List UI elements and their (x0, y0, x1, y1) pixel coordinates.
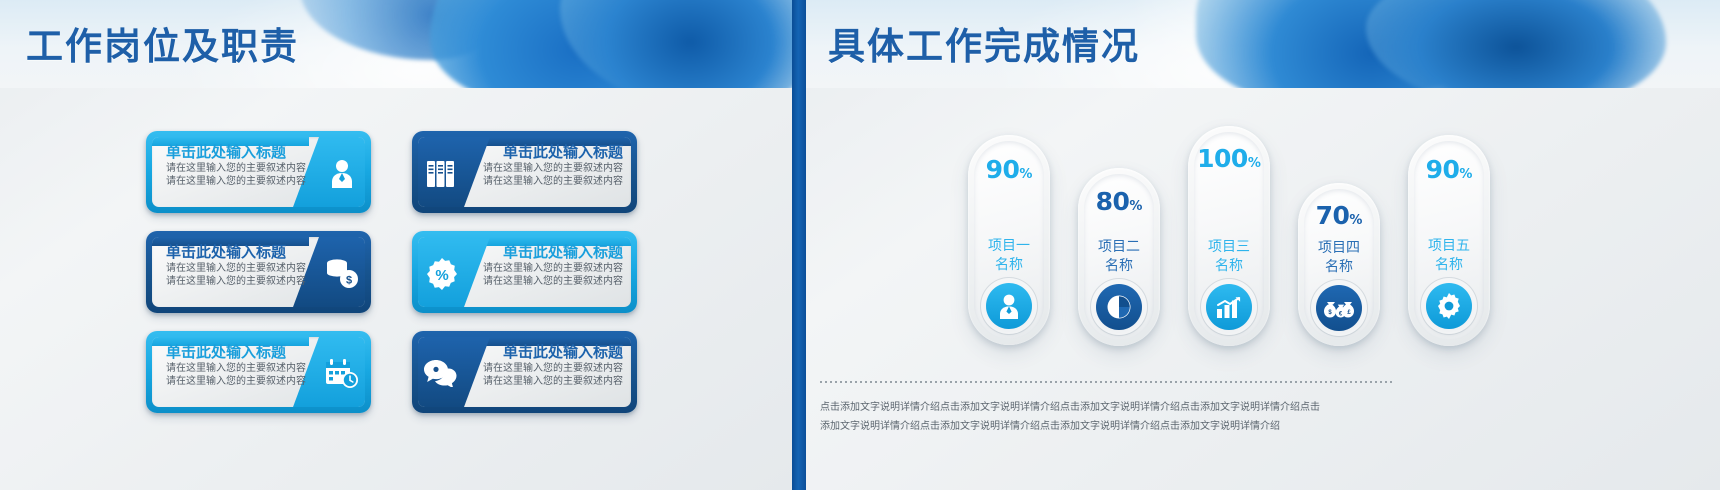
card-title: 单击此处输入标题 (473, 342, 623, 362)
bar-chart-growth-icon (1206, 284, 1252, 330)
capsule-label-line-1: 项目二 (1084, 238, 1154, 257)
responsibility-card[interactable]: 单击此处输入标题 请在这里输入您的主要叙述内容 请在这里输入您的主要叙述内容 (146, 131, 371, 213)
card-title: 单击此处输入标题 (166, 142, 316, 162)
capsule-percent-value: 80 (1096, 187, 1130, 216)
card-line-1: 请在这里输入您的主要叙述内容 (166, 362, 316, 375)
card-text-block: 单击此处输入标题 请在这里输入您的主要叙述内容 请在这里输入您的主要叙述内容 (166, 142, 316, 188)
capsule-percent-value: 90 (986, 155, 1020, 184)
capsule-percent: 70% (1304, 201, 1374, 230)
capsule-face: 70% 项目四 名称 (1304, 189, 1374, 340)
card-title: 单击此处输入标题 (473, 142, 623, 162)
capsule-label-line-2: 名称 (1414, 256, 1484, 275)
right-panel-title: 具体工作完成情况 (828, 16, 1140, 70)
card-text-block: 单击此处输入标题 请在这里输入您的主要叙述内容 请在这里输入您的主要叙述内容 (473, 342, 623, 388)
card-text-block: 单击此处输入标题 请在这里输入您的主要叙述内容 请在这里输入您的主要叙述内容 (473, 242, 623, 288)
card-line-2: 请在这里输入您的主要叙述内容 (473, 275, 623, 288)
svg-text:$: $ (346, 275, 352, 287)
capsule-percent: 80% (1084, 187, 1154, 216)
capsule-percent-value: 70 (1316, 201, 1350, 230)
responsibility-card[interactable]: 单击此处输入标题 请在这里输入您的主要叙述内容 请在这里输入您的主要叙述内容 (146, 331, 371, 413)
capsule-face: 80% 项目二 名称 (1084, 174, 1154, 340)
capsule-percent-value: 90 (1426, 155, 1460, 184)
card-line-1: 请在这里输入您的主要叙述内容 (473, 362, 623, 375)
capsule-label: 项目二 名称 (1084, 238, 1154, 276)
progress-capsule[interactable]: 90% 项目五 名称 (1408, 135, 1490, 346)
percent-sign: % (1459, 167, 1472, 182)
card-line-1: 请在这里输入您的主要叙述内容 (473, 162, 623, 175)
progress-capsule[interactable]: 100% 项目三 名称 (1188, 126, 1270, 346)
card-title: 单击此处输入标题 (473, 242, 623, 262)
capsule-label-line-2: 名称 (1084, 257, 1154, 276)
person-icon (327, 157, 357, 189)
card-line-2: 请在这里输入您的主要叙述内容 (166, 175, 316, 188)
footer-text-block: 点击添加文字说明详情介绍点击添加文字说明详情介绍点击添加文字说明详情介绍点击添加… (820, 398, 1406, 436)
card-inner-panel: 单击此处输入标题 请在这里输入您的主要叙述内容 请在这里输入您的主要叙述内容 % (418, 237, 631, 307)
capsule-label-line-2: 名称 (1194, 257, 1264, 276)
card-line-2: 请在这里输入您的主要叙述内容 (166, 375, 316, 388)
card-inner-panel: 单击此处输入标题 请在这里输入您的主要叙述内容 请在这里输入您的主要叙述内容 (418, 337, 631, 407)
responsibility-card[interactable]: 单击此处输入标题 请在这里输入您的主要叙述内容 请在这里输入您的主要叙述内容 (412, 131, 637, 213)
capsule-label: 项目四 名称 (1304, 239, 1374, 277)
right-panel: 具体工作完成情况 90% 项目一 名称 (806, 0, 1720, 490)
footer-divider (820, 381, 1394, 383)
footer-line-1: 点击添加文字说明详情介绍点击添加文字说明详情介绍点击添加文字说明详情介绍点击添加… (820, 398, 1406, 417)
capsule-label-line-1: 项目三 (1194, 238, 1264, 257)
percent-sign: % (1248, 156, 1261, 171)
card-text-block: 单击此处输入标题 请在这里输入您的主要叙述内容 请在这里输入您的主要叙述内容 (166, 342, 316, 388)
left-panel-title: 工作岗位及职责 (26, 16, 299, 70)
slide: 工作岗位及职责 单击此处输入标题 请在这里输入您的主要叙述内容 请在这里输入您的… (0, 0, 1720, 490)
card-line-2: 请在这里输入您的主要叙述内容 (166, 275, 316, 288)
progress-capsule[interactable]: 80% 项目二 名称 (1078, 168, 1160, 346)
capsule-face: 100% 项目三 名称 (1194, 132, 1264, 340)
card-inner-panel: 单击此处输入标题 请在这里输入您的主要叙述内容 请在这里输入您的主要叙述内容 (152, 237, 365, 307)
card-line-2: 请在这里输入您的主要叙述内容 (473, 375, 623, 388)
capsule-label: 项目三 名称 (1194, 238, 1264, 276)
capsule-face: 90% 项目一 名称 (974, 141, 1044, 339)
responsibility-card[interactable]: 单击此处输入标题 请在这里输入您的主要叙述内容 请在这里输入您的主要叙述内容 (146, 231, 371, 313)
capsule-label: 项目五 名称 (1414, 237, 1484, 275)
percent-badge-icon: % (426, 258, 458, 290)
card-text-block: 单击此处输入标题 请在这里输入您的主要叙述内容 请在这里输入您的主要叙述内容 (166, 242, 316, 288)
capsule-percent: 90% (1414, 155, 1484, 184)
speech-bubbles-icon (424, 359, 460, 387)
card-line-2: 请在这里输入您的主要叙述内容 (473, 175, 623, 188)
capsule-label-line-1: 项目五 (1414, 237, 1484, 256)
capsule-label-line-2: 名称 (974, 256, 1044, 275)
capsule-label-line-2: 名称 (1304, 258, 1374, 277)
percent-sign: % (1019, 167, 1032, 182)
coins-icon: $ (323, 257, 359, 289)
person-icon (986, 283, 1032, 329)
gear-icon (1426, 283, 1472, 329)
responsibility-card[interactable]: 单击此处输入标题 请在这里输入您的主要叙述内容 请在这里输入您的主要叙述内容 % (412, 231, 637, 313)
card-text-block: 单击此处输入标题 请在这里输入您的主要叙述内容 请在这里输入您的主要叙述内容 (473, 142, 623, 188)
percent-sign: % (1129, 199, 1142, 214)
card-title: 单击此处输入标题 (166, 242, 316, 262)
pie-chart-icon (1096, 284, 1142, 330)
capsule-face: 90% 项目五 名称 (1414, 141, 1484, 340)
card-line-1: 请在这里输入您的主要叙述内容 (473, 262, 623, 275)
card-inner-panel: 单击此处输入标题 请在这里输入您的主要叙述内容 请在这里输入您的主要叙述内容 (152, 137, 365, 207)
card-inner-panel: 单击此处输入标题 请在这里输入您的主要叙述内容 请在这里输入您的主要叙述内容 (152, 337, 365, 407)
progress-capsule[interactable]: 90% 项目一 名称 (968, 135, 1050, 345)
footer-line-2: 添加文字说明详情介绍点击添加文字说明详情介绍点击添加文字说明详情介绍点击添加文字… (820, 417, 1406, 436)
money-bags-icon: $€£ (1316, 285, 1362, 331)
responsibility-card[interactable]: 单击此处输入标题 请在这里输入您的主要叙述内容 请在这里输入您的主要叙述内容 (412, 331, 637, 413)
calendar-clock-icon (325, 359, 359, 389)
capsule-percent: 100% (1194, 144, 1264, 173)
capsule-label-line-1: 项目一 (974, 237, 1044, 256)
card-title: 单击此处输入标题 (166, 342, 316, 362)
capsule-percent-value: 100 (1197, 144, 1248, 173)
svg-text:%: % (435, 267, 448, 284)
left-panel: 工作岗位及职责 单击此处输入标题 请在这里输入您的主要叙述内容 请在这里输入您的… (0, 0, 792, 490)
progress-capsule[interactable]: 70% 项目四 名称 (1298, 183, 1380, 346)
panel-divider (792, 0, 806, 490)
card-line-1: 请在这里输入您的主要叙述内容 (166, 162, 316, 175)
percent-sign: % (1349, 213, 1362, 228)
capsule-percent: 90% (974, 155, 1044, 184)
capsule-label-line-1: 项目四 (1304, 239, 1374, 258)
card-line-1: 请在这里输入您的主要叙述内容 (166, 262, 316, 275)
card-inner-panel: 单击此处输入标题 请在这里输入您的主要叙述内容 请在这里输入您的主要叙述内容 (418, 137, 631, 207)
capsule-label: 项目一 名称 (974, 237, 1044, 275)
books-icon (427, 159, 461, 187)
